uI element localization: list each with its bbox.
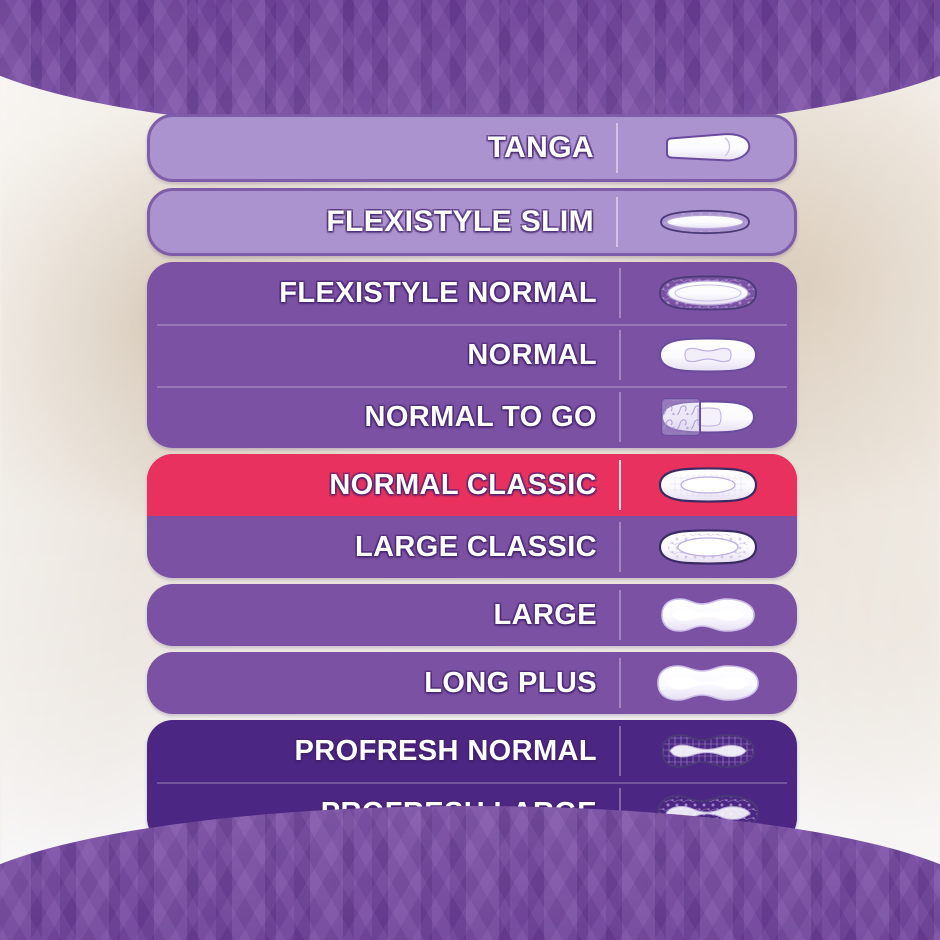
product-row[interactable]: FLEXISTYLE SLIM flexistyle-slim-pad-icon: [150, 191, 794, 253]
product-name-label: LARGE: [147, 601, 619, 630]
product-row[interactable]: LONG PLUS long-plus-pad-icon: [147, 652, 797, 714]
product-row[interactable]: PROFRESH NORMAL profresh-normal-pad-icon: [147, 720, 797, 782]
product-row[interactable]: LARGE CLASSIC large-classic-pad-icon: [147, 516, 797, 578]
product-name-label: PROFRESH LARGE: [147, 799, 619, 828]
product-name-label: LARGE CLASSIC: [147, 533, 619, 562]
flexistyle-slim-pad-icon: flexistyle-slim-pad-icon: [616, 191, 794, 253]
product-name-label: PROFRESH NORMAL: [147, 737, 619, 766]
product-name-label: FLEXISTYLE NORMAL: [147, 279, 619, 308]
large-classic-pad-icon: large-classic-pad-icon: [619, 516, 797, 578]
normal-to-go-pad-icon: normal-to-go-pad-icon: [619, 386, 797, 448]
tanga-pad-icon: tanga-pad-icon: [616, 117, 794, 179]
product-group: FLEXISTYLE SLIM flexistyle-slim-pad-icon: [147, 188, 797, 256]
normal-classic-pad-icon: normal-classic-pad-icon: [619, 454, 797, 516]
profresh-large-pad-icon: profresh-large-pad-icon: [619, 782, 797, 844]
product-size-ladder: TANGA tanga-pad-iconFLEXISTYLE SLIM: [147, 114, 797, 850]
long-plus-pad-icon: long-plus-pad-icon: [619, 652, 797, 714]
product-row[interactable]: FLEXISTYLE NORMAL flexistyle-normal-pad-…: [147, 262, 797, 324]
product-name-label: NORMAL CLASSIC: [147, 471, 619, 500]
normal-pad-icon: normal-pad-icon: [619, 324, 797, 386]
product-name-label: NORMAL TO GO: [147, 403, 619, 432]
large-pad-icon: large-pad-icon: [619, 584, 797, 646]
product-group: LONG PLUS long-plus-pad-icon: [147, 652, 797, 714]
product-group: NORMAL CLASSIC normal-classic-pad-iconLA…: [147, 454, 797, 578]
product-row[interactable]: PROFRESH LARGE profresh-large-pad-icon: [147, 782, 797, 844]
product-row[interactable]: NORMAL TO GO normal-to-go-pad-icon: [147, 386, 797, 448]
profresh-normal-pad-icon: profresh-normal-pad-icon: [619, 720, 797, 782]
product-group: FLEXISTYLE NORMAL flexistyle-normal-pad-…: [147, 262, 797, 448]
product-row[interactable]: TANGA tanga-pad-icon: [150, 117, 794, 179]
product-group: PROFRESH NORMAL profresh-normal-pad-icon…: [147, 720, 797, 844]
product-row[interactable]: NORMAL normal-pad-icon: [147, 324, 797, 386]
product-group: LARGE large-pad-icon: [147, 584, 797, 646]
product-name-label: FLEXISTYLE SLIM: [150, 207, 616, 237]
product-row[interactable]: LARGE large-pad-icon: [147, 584, 797, 646]
product-row[interactable]: NORMAL CLASSIC normal-classic-pad-icon: [147, 454, 797, 516]
product-group: TANGA tanga-pad-icon: [147, 114, 797, 182]
product-name-label: LONG PLUS: [147, 669, 619, 698]
product-name-label: TANGA: [150, 133, 616, 163]
product-name-label: NORMAL: [147, 341, 619, 370]
flexistyle-normal-pad-icon: flexistyle-normal-pad-icon: [619, 262, 797, 324]
